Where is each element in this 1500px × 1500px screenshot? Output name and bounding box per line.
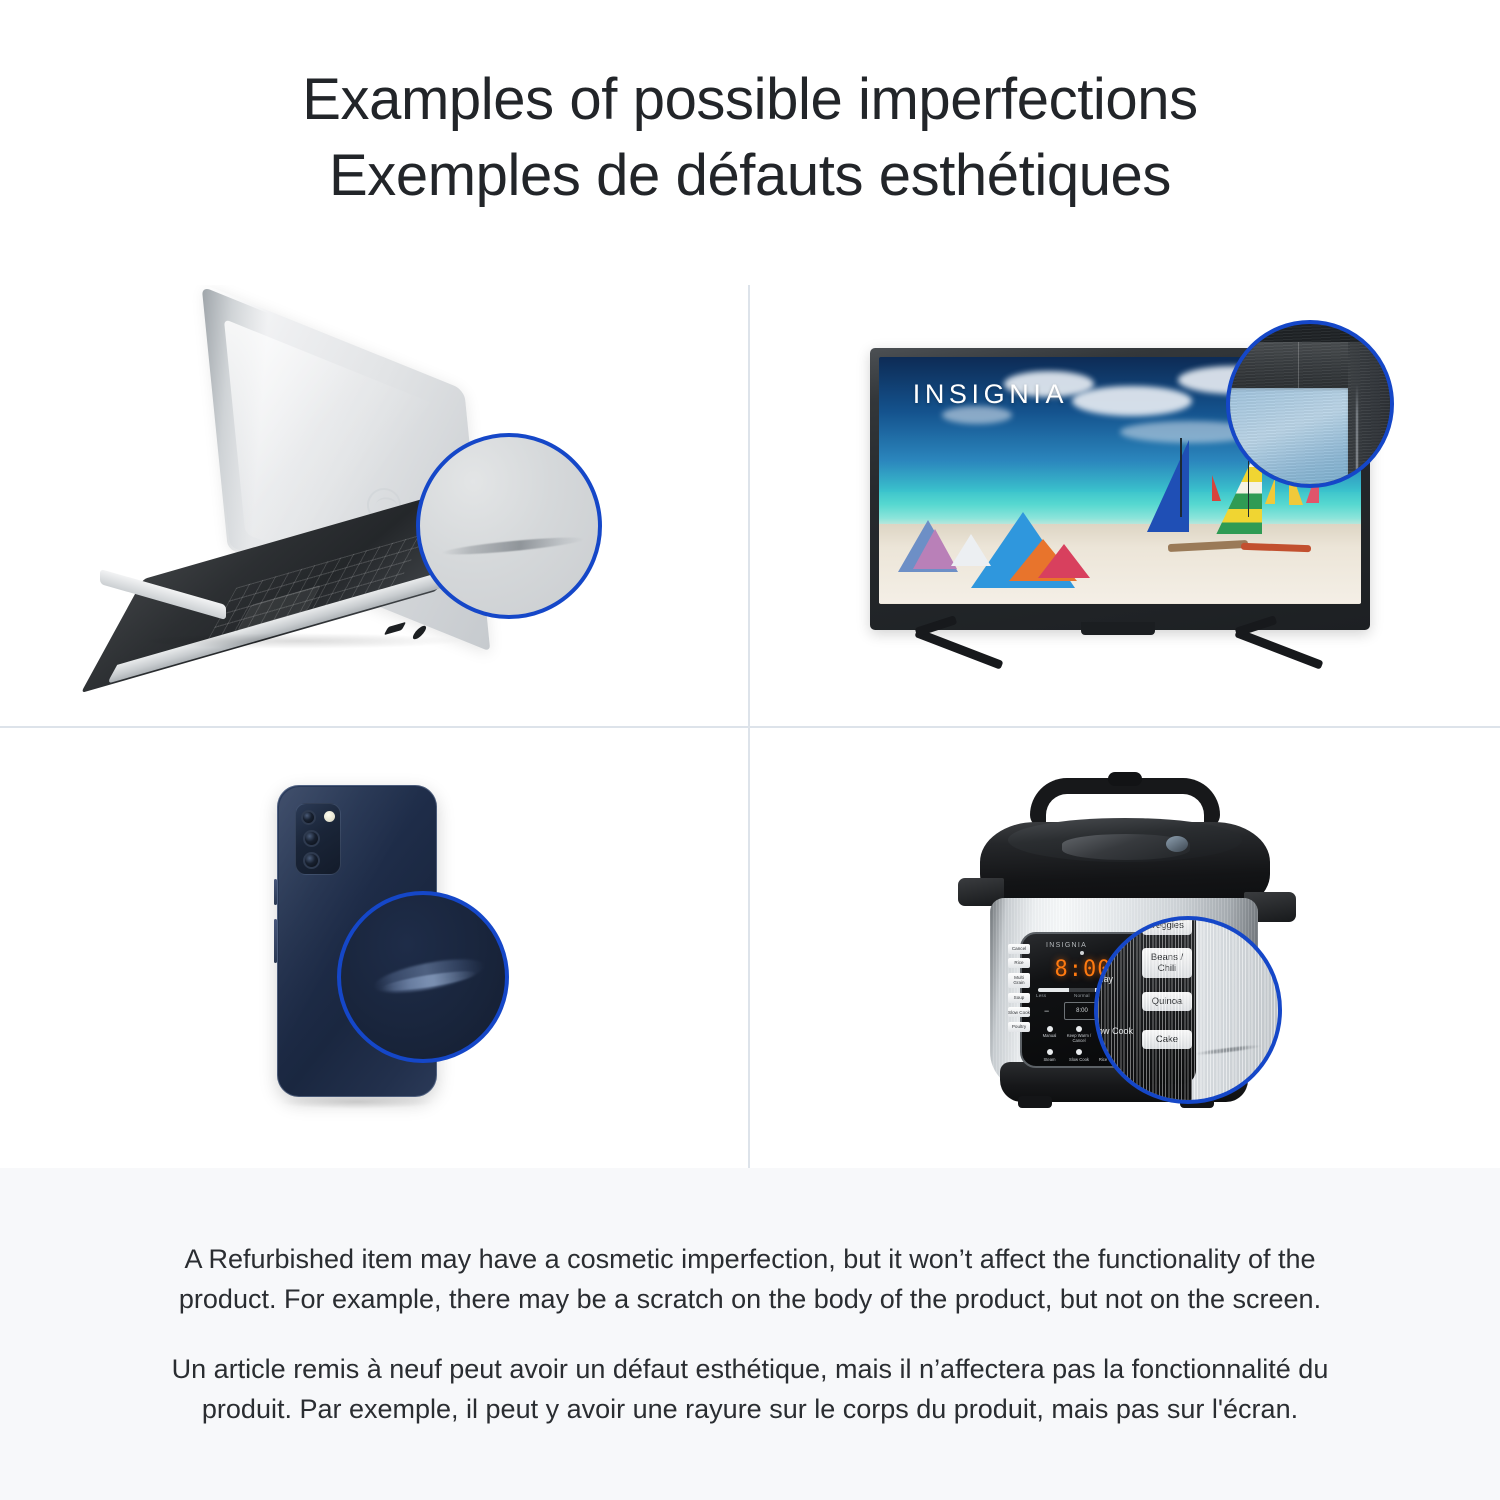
panel-television: INSIGNIA: [750, 285, 1498, 726]
page-title-en: Examples of possible imperfections: [0, 62, 1500, 138]
cooker-indicator-led: [1080, 951, 1084, 955]
cooker-lid-knob: [1108, 772, 1142, 786]
panel-pressure-cooker: INSIGNIA 8:00 Less Normal More − 8:00 + …: [750, 728, 1498, 1169]
cooker-minus-button[interactable]: −: [1044, 1006, 1049, 1016]
cloud-shape: [1072, 386, 1192, 416]
sail-red: [1212, 475, 1221, 501]
examples-grid: INSIGNIA: [0, 285, 1500, 1168]
phone-power-button: [274, 919, 277, 963]
tv-illustration: INSIGNIA: [864, 326, 1384, 686]
footer-description: A Refurbished item may have a cosmetic i…: [0, 1168, 1500, 1500]
sailboat-mast: [1180, 438, 1182, 517]
magnifier-laptop-scratch: [416, 433, 602, 619]
tv-stand-neck: [1081, 622, 1155, 635]
cooker-key-label: Keep Warm / Cancel: [1067, 1033, 1091, 1043]
cooker-foot: [1018, 1096, 1052, 1108]
magnified-button-quinoa: Quinoa: [1142, 992, 1192, 1011]
camera-lens-icon: [303, 852, 320, 869]
cooker-key-label: Slow Cook: [1069, 1057, 1089, 1062]
cooker-button-slow-cook[interactable]: Slow Cook: [1008, 1007, 1030, 1017]
tv-scratch-mark: [1356, 384, 1358, 488]
tv-bezel-seam: [1298, 342, 1299, 388]
refurbished-imperfections-infographic: Examples of possible imperfections Exemp…: [0, 0, 1500, 1500]
footer-paragraph-fr: Un article remis à neuf peut avoir un dé…: [170, 1349, 1330, 1429]
tv-screen-blur: [1226, 386, 1352, 488]
page-title: Examples of possible imperfections Exemp…: [0, 62, 1500, 214]
cooker-steam-valve-icon: [1166, 836, 1188, 852]
cooker-key-manual[interactable]: Manual: [1036, 1026, 1063, 1044]
magnified-label-slow-cook: Slow Cook: [1094, 1026, 1133, 1036]
panel-laptop: [0, 285, 748, 726]
beach-tent: [1038, 544, 1090, 578]
laptop-illustration: [124, 341, 624, 671]
key-led-icon: [1047, 1026, 1053, 1032]
cooker-key-label: Steam: [1043, 1057, 1055, 1062]
camera-flash-icon: [324, 811, 335, 822]
cooker-key-label: Manual: [1043, 1033, 1057, 1038]
magnifier-phone-scuff: [337, 891, 509, 1063]
cooker-button-soup[interactable]: Soup: [1008, 993, 1030, 1003]
tv-bezel-right: [1348, 342, 1394, 488]
page-title-fr: Exemples de défauts esthétiques: [0, 138, 1500, 214]
cooker-key-steam[interactable]: Steam: [1036, 1049, 1063, 1062]
panel-smartphone: [0, 728, 748, 1169]
tv-screen-brand-label: INSIGNIA: [913, 379, 1068, 410]
cooker-key-slow-cook[interactable]: Slow Cook: [1066, 1049, 1093, 1062]
cooker-button-rice[interactable]: Rice: [1008, 958, 1030, 968]
cooker-button-poultry[interactable]: Poultry: [1008, 1022, 1030, 1032]
sail-blue: [1147, 440, 1189, 532]
tv-leg-right: [1234, 628, 1323, 669]
magnified-button-beans-chili: Beans / Chili: [1142, 948, 1192, 978]
laptop-scratch-mark: [442, 534, 584, 558]
beach-tent: [951, 534, 991, 566]
cooker-left-button-column[interactable]: Cancel Rice Multi Grain Soup Slow Cook P…: [1008, 944, 1030, 1037]
beach-tent: [913, 529, 957, 569]
magnifier-cooker-scratch: Delay Slow Cook Veggies Beans / Chili Qu…: [1094, 916, 1282, 1104]
laptop-shadow: [134, 633, 464, 649]
camera-lens-icon: [301, 810, 316, 825]
cooker-brand-label: INSIGNIA: [1046, 942, 1087, 949]
tv-leg-left: [914, 628, 1003, 669]
magnifier-tv-scratch: [1226, 320, 1394, 488]
magnified-button-cake: Cake: [1142, 1030, 1192, 1049]
cooker-scratch-mark: [1194, 1043, 1262, 1055]
key-led-icon: [1047, 1049, 1053, 1055]
cooker-button-cancel[interactable]: Cancel: [1008, 944, 1030, 954]
footer-paragraph-en: A Refurbished item may have a cosmetic i…: [170, 1239, 1330, 1319]
cooker-key-keep-warm[interactable]: Keep Warm / Cancel: [1066, 1026, 1093, 1044]
phone-camera-module: [295, 803, 341, 875]
cooker-button-multi-grain[interactable]: Multi Grain: [1008, 973, 1030, 989]
key-led-icon: [1076, 1026, 1082, 1032]
phone-volume-button: [274, 879, 277, 905]
cooker-bar-label-less: Less: [1036, 993, 1046, 998]
phone-shadow: [281, 1095, 433, 1109]
cooker-illustration: INSIGNIA 8:00 Less Normal More − 8:00 + …: [944, 774, 1304, 1124]
phone-illustration: [219, 779, 529, 1119]
cooker-bar-label-normal: Normal: [1074, 993, 1090, 998]
key-led-icon: [1076, 1049, 1082, 1055]
camera-lens-icon: [303, 830, 320, 847]
